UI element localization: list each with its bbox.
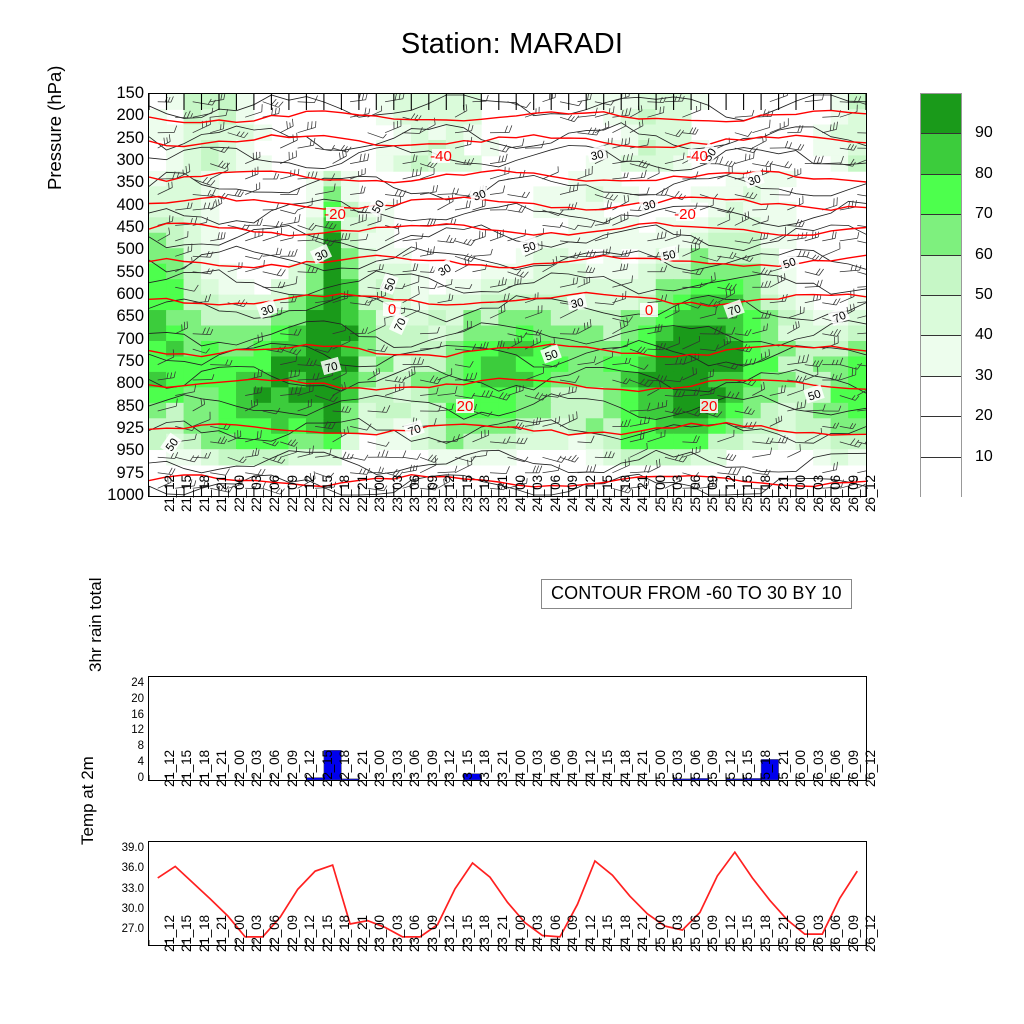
rain-tick-8: 8: [108, 741, 144, 753]
x-tick-23_09: 23_09: [425, 475, 440, 512]
pressure-tick-950: 950: [96, 442, 144, 459]
x-tick-25_21: 25_21: [776, 915, 791, 952]
x-tick-21_21: 21_21: [214, 915, 229, 952]
x-tick-25_15: 25_15: [740, 915, 755, 952]
colorbar-band-0-10: [921, 458, 961, 498]
svg-text:20: 20: [701, 398, 718, 415]
x-tick-23_06: 23_06: [407, 915, 422, 952]
x-tick-25_00: 25_00: [653, 750, 668, 787]
x-tick-21_15: 21_15: [179, 915, 194, 952]
x-tick-21_15: 21_15: [179, 475, 194, 512]
x-tick-22_03: 22_03: [249, 475, 264, 512]
colorbar-band-70-80: [921, 175, 961, 215]
x-tick-26_09: 26_09: [846, 915, 861, 952]
x-tick-26_06: 26_06: [828, 475, 843, 512]
x-tick-21_18: 21_18: [197, 750, 212, 787]
x-tick-24_00: 24_00: [513, 750, 528, 787]
x-tick-25_12: 25_12: [723, 475, 738, 512]
x-tick-26_03: 26_03: [811, 915, 826, 952]
x-tick-23_00: 23_00: [372, 750, 387, 787]
x-tick-25_12: 25_12: [723, 915, 738, 952]
x-tick-24_09: 24_09: [565, 750, 580, 787]
pressure-tick-300: 300: [96, 152, 144, 169]
x-tick-26_12: 26_12: [863, 915, 878, 952]
x-tick-21_15: 21_15: [179, 750, 194, 787]
temp-tick-30: 30.0: [100, 904, 144, 916]
humidity-cross-section-panel: 3050507030307070505030305050705050705030…: [148, 93, 867, 497]
temp-tick-27: 27.0: [100, 924, 144, 936]
x-tick-22_21: 22_21: [355, 475, 370, 512]
x-tick-25_18: 25_18: [758, 475, 773, 512]
x-tick-23_03: 23_03: [390, 750, 405, 787]
x-tick-25_09: 25_09: [705, 915, 720, 952]
pressure-axis-label: Pressure (hPa): [44, 66, 66, 190]
pressure-tick-750: 750: [96, 353, 144, 370]
pressure-tick-200: 200: [96, 107, 144, 124]
x-tick-23_15: 23_15: [460, 915, 475, 952]
temp-panel-x-axis-labels: 21_1221_1521_1821_2122_0022_0322_0622_09…: [148, 952, 867, 1022]
x-tick-22_09: 22_09: [285, 750, 300, 787]
colorbar-band-30-40: [921, 336, 961, 376]
x-tick-21_21: 21_21: [214, 750, 229, 787]
x-tick-26_09: 26_09: [846, 750, 861, 787]
x-tick-22_12: 22_12: [302, 750, 317, 787]
x-tick-23_15: 23_15: [460, 475, 475, 512]
x-tick-26_00: 26_00: [793, 750, 808, 787]
svg-text:-20: -20: [324, 206, 346, 223]
temp-axis-ticks: 27.030.033.036.039.0: [100, 833, 144, 953]
x-tick-21_21: 21_21: [214, 475, 229, 512]
x-tick-26_00: 26_00: [793, 915, 808, 952]
x-tick-23_06: 23_06: [407, 475, 422, 512]
pressure-tick-350: 350: [96, 174, 144, 191]
x-tick-24_15: 24_15: [600, 750, 615, 787]
x-tick-25_18: 25_18: [758, 915, 773, 952]
x-tick-22_18: 22_18: [337, 915, 352, 952]
x-tick-24_06: 24_06: [548, 915, 563, 952]
x-tick-24_15: 24_15: [600, 915, 615, 952]
x-tick-21_18: 21_18: [197, 475, 212, 512]
colorbar-band-60-70: [921, 215, 961, 255]
x-tick-22_18: 22_18: [337, 475, 352, 512]
x-tick-22_09: 22_09: [285, 475, 300, 512]
colorbar-band-20-30: [921, 377, 961, 417]
x-tick-24_21: 24_21: [635, 915, 650, 952]
rain-tick-0: 0: [108, 773, 144, 785]
x-tick-25_21: 25_21: [776, 750, 791, 787]
x-tick-24_06: 24_06: [548, 475, 563, 512]
x-tick-24_00: 24_00: [513, 915, 528, 952]
x-tick-25_06: 25_06: [688, 475, 703, 512]
x-tick-23_15: 23_15: [460, 750, 475, 787]
x-tick-23_21: 23_21: [495, 915, 510, 952]
main-panel-x-axis-labels: 21_1221_1521_1821_2122_0022_0322_0622_09…: [148, 512, 867, 582]
temp-tick-33: 33.0: [100, 884, 144, 896]
svg-text:20: 20: [457, 398, 474, 415]
x-tick-22_12: 22_12: [302, 475, 317, 512]
x-tick-21_18: 21_18: [197, 915, 212, 952]
colorbar-band-40-50: [921, 296, 961, 336]
x-tick-22_00: 22_00: [232, 475, 247, 512]
x-tick-23_12: 23_12: [442, 915, 457, 952]
colorbar-label-80: 80: [975, 166, 993, 182]
colorbar-band-80-90: [921, 134, 961, 174]
x-tick-26_06: 26_06: [828, 750, 843, 787]
x-tick-22_03: 22_03: [249, 915, 264, 952]
page-title: Station: MARADI: [0, 28, 1024, 61]
x-tick-26_00: 26_00: [793, 475, 808, 512]
x-tick-25_00: 25_00: [653, 915, 668, 952]
colorbar-label-30: 30: [975, 368, 993, 384]
x-tick-24_03: 24_03: [530, 475, 545, 512]
x-tick-23_12: 23_12: [442, 475, 457, 512]
colorbar-band-90-100: [921, 94, 961, 134]
pressure-tick-550: 550: [96, 264, 144, 281]
colorbar-band-50-60: [921, 256, 961, 296]
colorbar-label-70: 70: [975, 206, 993, 222]
colorbar-label-60: 60: [975, 247, 993, 263]
rain-tick-20: 20: [108, 694, 144, 706]
contour-annotation: CONTOUR FROM -60 TO 30 BY 10: [541, 579, 852, 609]
x-tick-23_00: 23_00: [372, 915, 387, 952]
x-tick-25_06: 25_06: [688, 915, 703, 952]
x-tick-21_12: 21_12: [162, 915, 177, 952]
x-tick-24_06: 24_06: [548, 750, 563, 787]
x-tick-25_21: 25_21: [776, 475, 791, 512]
x-tick-26_06: 26_06: [828, 915, 843, 952]
x-tick-22_18: 22_18: [337, 750, 352, 787]
x-tick-25_18: 25_18: [758, 750, 773, 787]
temp-tick-36: 36.0: [100, 863, 144, 875]
svg-text:0: 0: [388, 301, 396, 318]
temp-axis-label: Temp at 2m: [78, 756, 98, 845]
pressure-tick-450: 450: [96, 219, 144, 236]
pressure-tick-850: 850: [96, 398, 144, 415]
pressure-tick-1000: 1000: [96, 487, 144, 504]
x-tick-22_06: 22_06: [267, 915, 282, 952]
svg-text:0: 0: [645, 302, 653, 319]
x-tick-23_21: 23_21: [495, 475, 510, 512]
colorbar-band-10-20: [921, 417, 961, 457]
weather-station-figure: Station: MARADI Pressure (hPa) 150200250…: [0, 0, 1024, 1024]
x-tick-22_15: 22_15: [320, 750, 335, 787]
x-tick-22_15: 22_15: [320, 475, 335, 512]
x-tick-25_09: 25_09: [705, 750, 720, 787]
x-tick-24_09: 24_09: [565, 915, 580, 952]
x-tick-24_18: 24_18: [618, 750, 633, 787]
x-tick-22_06: 22_06: [267, 475, 282, 512]
x-tick-22_21: 22_21: [355, 750, 370, 787]
x-tick-26_12: 26_12: [863, 475, 878, 512]
x-tick-26_09: 26_09: [846, 475, 861, 512]
x-tick-23_12: 23_12: [442, 750, 457, 787]
x-tick-22_03: 22_03: [249, 750, 264, 787]
x-tick-24_03: 24_03: [530, 915, 545, 952]
x-tick-22_00: 22_00: [232, 750, 247, 787]
colorbar-label-20: 20: [975, 408, 993, 424]
x-tick-21_12: 21_12: [162, 750, 177, 787]
x-tick-22_15: 22_15: [320, 915, 335, 952]
x-tick-24_21: 24_21: [635, 750, 650, 787]
rain-axis-label: 3hr rain total: [86, 578, 106, 673]
svg-text:-40: -40: [686, 148, 708, 165]
x-tick-21_12: 21_12: [162, 475, 177, 512]
x-tick-23_18: 23_18: [477, 475, 492, 512]
x-tick-24_15: 24_15: [600, 475, 615, 512]
pressure-tick-250: 250: [96, 130, 144, 147]
x-tick-25_12: 25_12: [723, 750, 738, 787]
rain-tick-24: 24: [108, 678, 144, 690]
x-tick-23_18: 23_18: [477, 750, 492, 787]
x-tick-24_03: 24_03: [530, 750, 545, 787]
rain-tick-12: 12: [108, 725, 144, 737]
colorbar-label-40: 40: [975, 327, 993, 343]
x-tick-25_06: 25_06: [688, 750, 703, 787]
x-tick-23_06: 23_06: [407, 750, 422, 787]
x-tick-25_15: 25_15: [740, 750, 755, 787]
pressure-tick-800: 800: [96, 375, 144, 392]
svg-text:-20: -20: [674, 206, 696, 223]
x-tick-24_18: 24_18: [618, 475, 633, 512]
x-tick-22_06: 22_06: [267, 750, 282, 787]
x-tick-24_09: 24_09: [565, 475, 580, 512]
x-tick-26_03: 26_03: [811, 750, 826, 787]
rain-tick-4: 4: [108, 757, 144, 769]
x-tick-23_03: 23_03: [390, 915, 405, 952]
x-tick-25_03: 25_03: [670, 915, 685, 952]
x-tick-23_21: 23_21: [495, 750, 510, 787]
colorbar-label-10: 10: [975, 449, 993, 465]
pressure-tick-600: 600: [96, 286, 144, 303]
rain-axis-ticks: 04812162024: [108, 668, 144, 788]
x-tick-22_21: 22_21: [355, 915, 370, 952]
pressure-tick-700: 700: [96, 331, 144, 348]
pressure-tick-400: 400: [96, 197, 144, 214]
x-tick-24_12: 24_12: [583, 750, 598, 787]
x-tick-22_12: 22_12: [302, 915, 317, 952]
x-tick-23_03: 23_03: [390, 475, 405, 512]
temp-tick-39: 39.0: [100, 843, 144, 855]
x-tick-23_00: 23_00: [372, 475, 387, 512]
colorbar-labels: 908070605040302010: [975, 93, 1024, 497]
colorbar-label-90: 90: [975, 125, 993, 141]
x-tick-22_00: 22_00: [232, 915, 247, 952]
pressure-tick-150: 150: [96, 85, 144, 102]
x-tick-23_09: 23_09: [425, 915, 440, 952]
x-tick-23_18: 23_18: [477, 915, 492, 952]
x-tick-25_03: 25_03: [670, 475, 685, 512]
x-tick-25_09: 25_09: [705, 475, 720, 512]
pressure-tick-500: 500: [96, 241, 144, 258]
pressure-axis-ticks: 1502002503003504004505005506006507007508…: [96, 86, 144, 506]
humidity-colorbar: [920, 93, 962, 497]
x-tick-26_12: 26_12: [863, 750, 878, 787]
x-tick-24_00: 24_00: [513, 475, 528, 512]
pressure-tick-925: 925: [96, 420, 144, 437]
x-tick-26_03: 26_03: [811, 475, 826, 512]
x-tick-25_00: 25_00: [653, 475, 668, 512]
pressure-tick-650: 650: [96, 308, 144, 325]
x-tick-25_15: 25_15: [740, 475, 755, 512]
x-tick-24_18: 24_18: [618, 915, 633, 952]
x-tick-25_03: 25_03: [670, 750, 685, 787]
rain-tick-16: 16: [108, 710, 144, 722]
x-tick-24_12: 24_12: [583, 915, 598, 952]
x-tick-22_09: 22_09: [285, 915, 300, 952]
pressure-tick-975: 975: [96, 465, 144, 482]
colorbar-label-50: 50: [975, 287, 993, 303]
x-tick-24_12: 24_12: [583, 475, 598, 512]
cross-section-plot: 3050507030307070505030305050705050705030…: [149, 94, 866, 496]
x-tick-24_21: 24_21: [635, 475, 650, 512]
x-tick-23_09: 23_09: [425, 750, 440, 787]
svg-text:-40: -40: [430, 148, 452, 165]
